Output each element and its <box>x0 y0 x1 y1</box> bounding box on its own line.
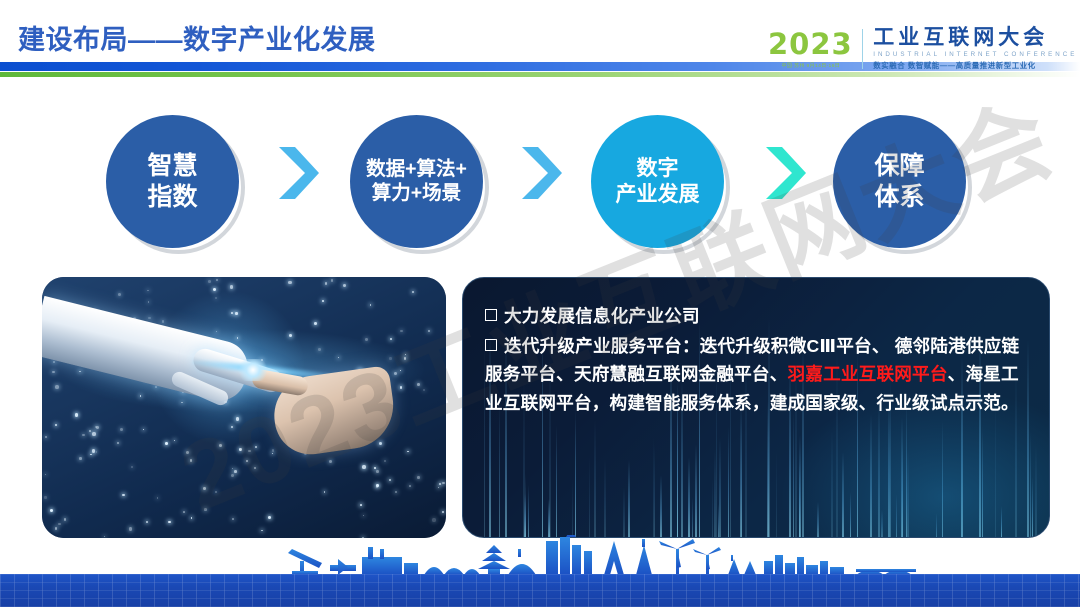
flow-step-2[interactable]: 数据+算法+算力+场景 <box>350 115 483 248</box>
bullet-item-2: 迭代升级产业服务平台：迭代升级积微CⅢ平台、 德邻陆港供应链服务平台、天府慧融互… <box>485 332 1033 418</box>
sparkle-dot <box>389 357 392 360</box>
page-title: 建设布局——数字产业化发展 <box>18 18 376 57</box>
sparkle-dot <box>146 521 148 523</box>
sparkle-dot <box>165 442 168 445</box>
sparkle-dot <box>428 330 430 332</box>
sparkle-dot <box>208 280 211 283</box>
sparkle-dot <box>230 285 233 288</box>
sparkle-dot <box>232 518 234 520</box>
sparkle-dot <box>261 530 262 531</box>
flow-step-4[interactable]: 保障体系 <box>833 115 966 248</box>
sparkle-dot <box>400 330 402 332</box>
sparkle-dot <box>174 440 175 441</box>
sparkle-dot <box>390 338 392 340</box>
sparkle-dot <box>412 291 414 293</box>
hero-photo <box>42 277 446 538</box>
light-streak <box>594 420 596 537</box>
sparkle-dot <box>325 282 328 285</box>
sparkle-dot <box>231 426 233 428</box>
slide-footer <box>0 538 1080 607</box>
sparkle-dot <box>162 320 165 323</box>
sparkle-dot <box>140 395 141 396</box>
sparkle-dot <box>384 460 386 462</box>
sparkle-dot <box>322 300 324 302</box>
sparkle-dot <box>213 288 216 291</box>
sparkle-dot <box>168 521 171 524</box>
sparkle-dot <box>439 483 442 486</box>
sparkle-dot <box>215 491 217 493</box>
footer-grid-pattern <box>0 574 1080 607</box>
sparkle-dot <box>394 372 397 375</box>
city-skyline-icon <box>0 535 1080 575</box>
slide-root: 建设布局——数字产业化发展 2023 中国·苏州 9月14日-16日 工业互联网… <box>0 0 1080 607</box>
sparkle-dot <box>64 518 66 520</box>
flow-step-1[interactable]: 智慧指数 <box>106 115 239 248</box>
sparkle-dot <box>289 334 292 337</box>
light-streak <box>695 444 697 537</box>
sparkle-dot <box>120 428 123 431</box>
sparkle-dot <box>216 279 218 281</box>
light-streak <box>525 474 527 537</box>
sparkle-dot <box>417 383 420 386</box>
sparkle-dot <box>181 402 183 404</box>
sparkle-dot <box>203 487 206 490</box>
sparkle-dot <box>157 497 158 498</box>
sparkle-dot <box>92 432 96 436</box>
sparkle-dot <box>96 451 98 453</box>
slide-header: 建设布局——数字产业化发展 2023 中国·苏州 9月14日-16日 工业互联网… <box>0 0 1080 88</box>
light-streak <box>728 427 730 537</box>
logo-year-block: 2023 中国·苏州 9月14日-16日 <box>768 30 862 69</box>
sparkle-dot <box>89 430 91 432</box>
sparkle-dot <box>237 337 239 339</box>
sparkle-dot <box>53 361 55 363</box>
panel-body-highlight: 羽嘉工业互联网平台 <box>788 364 948 384</box>
sparkle-dot <box>45 474 46 475</box>
sparkle-dot <box>96 426 99 429</box>
sparkle-dot <box>235 312 237 314</box>
sparkle-dot <box>343 284 346 287</box>
sparkle-dot <box>338 357 340 359</box>
sparkle-dot <box>190 459 192 461</box>
sparkle-dot <box>79 371 81 373</box>
sparkle-dot <box>442 511 444 513</box>
light-streak <box>654 444 656 537</box>
sparkle-dot <box>370 304 371 305</box>
light-streak <box>688 457 690 537</box>
sparkle-dot <box>191 517 193 519</box>
light-streak <box>556 425 558 537</box>
light-streak <box>623 487 625 537</box>
bullet-square-icon <box>485 339 497 351</box>
spark-core <box>238 359 268 381</box>
sparkle-dot <box>329 460 332 463</box>
sparkle-dot <box>148 301 150 303</box>
bullet-square-icon <box>485 309 497 321</box>
logo-date-location: 中国·苏州 9月14日-16日 <box>781 62 840 69</box>
panel-text: 大力发展信息化产业公司 迭代升级产业服务平台：迭代升级积微CⅢ平台、 德邻陆港供… <box>485 302 1033 417</box>
footer-ground-band <box>0 574 1080 607</box>
sparkle-dot <box>148 317 151 320</box>
sparkle-dot <box>82 434 85 437</box>
logo-english-name: INDUSTRIAL INTERNET CONFERENCE <box>873 51 1077 58</box>
light-streak <box>776 450 778 537</box>
sparkle-dot <box>324 491 326 493</box>
flow-step-2-label: 数据+算法+算力+场景 <box>360 158 473 206</box>
sparkle-dot <box>376 470 379 473</box>
sparkle-dot <box>186 451 189 454</box>
content-panel: 大力发展信息化产业公司 迭代升级产业服务平台：迭代升级积微CⅢ平台、 德邻陆港供… <box>462 277 1050 538</box>
sparkle-dot <box>231 474 235 478</box>
sparkle-dot <box>58 523 61 526</box>
sparkle-dot <box>248 450 250 452</box>
sparkle-dot <box>90 454 92 456</box>
sparkle-dot <box>314 322 317 325</box>
sparkle-dot <box>183 511 185 513</box>
sparkle-dot <box>331 279 333 281</box>
sparkle-dot <box>239 448 242 451</box>
sparkle-dot <box>234 470 237 473</box>
sparkle-dot <box>231 312 233 314</box>
sparkle-dot <box>79 457 82 460</box>
sparkle-dot <box>92 449 95 452</box>
sparkle-dot <box>204 508 207 511</box>
sparkle-dot <box>122 494 125 497</box>
sparkle-dot <box>417 476 420 479</box>
sparkle-dot <box>129 527 132 530</box>
sparkle-dot <box>318 348 321 351</box>
flow-step-3[interactable]: 数字产业发展 <box>591 115 724 248</box>
light-streak <box>719 438 721 537</box>
sparkle-dot <box>438 487 439 488</box>
sparkle-dot <box>389 479 391 481</box>
sparkle-dot <box>255 446 257 448</box>
sparkle-dot <box>50 509 53 512</box>
sparkle-dot <box>52 371 55 374</box>
light-streak <box>575 419 577 537</box>
sparkle-dot <box>118 293 121 296</box>
sparkle-dot <box>55 385 59 389</box>
flow-arrow-3-icon <box>762 145 808 201</box>
sparkle-dot <box>131 466 133 468</box>
flow-arrow-1-icon <box>275 145 321 201</box>
sparkle-dot <box>379 442 382 445</box>
light-streak <box>548 499 550 537</box>
sparkle-dot <box>272 449 275 452</box>
sparkle-dot <box>288 281 291 284</box>
sparkle-dot <box>409 485 411 487</box>
flow-diagram: 智慧指数 数据+算法+算力+场景 数字产业发展 <box>0 105 1080 250</box>
conference-logo: 2023 中国·苏州 9月14日-16日 工业互联网大会 INDUSTRIAL … <box>768 24 1077 74</box>
sparkle-dot <box>55 527 57 529</box>
sparkle-dot <box>376 486 378 488</box>
light-streak <box>589 457 591 537</box>
light-streak <box>528 485 530 537</box>
sparkle-dot <box>423 389 425 391</box>
sparkle-dot <box>155 386 157 388</box>
light-streak <box>499 402 501 537</box>
sparkle-dot <box>363 515 365 517</box>
sparkle-dot <box>236 417 239 420</box>
sparkle-dot <box>215 297 217 299</box>
light-streak <box>604 459 606 537</box>
sparkle-dot <box>75 413 78 416</box>
light-streak <box>628 460 630 537</box>
light-streak <box>660 475 662 537</box>
sparkle-dot <box>432 518 436 522</box>
sparkle-dot <box>442 482 445 485</box>
sparkle-dot <box>268 516 271 519</box>
flow-arrow-2-icon <box>518 145 564 201</box>
sparkle-dot <box>404 357 407 360</box>
light-streak <box>740 405 742 537</box>
sparkle-dot <box>216 331 218 333</box>
sparkle-dot <box>362 465 366 469</box>
sparkle-dot <box>374 467 376 469</box>
sparkle-dot <box>400 370 401 371</box>
logo-tagline: 数实融合 数智赋能——高质量推进新型工业化 <box>873 60 1077 71</box>
sparkle-dot <box>407 451 409 453</box>
sparkle-dot <box>405 354 406 355</box>
logo-text-block: 工业互联网大会 INDUSTRIAL INTERNET CONFERENCE 数… <box>863 27 1077 71</box>
sparkle-dot <box>400 386 403 389</box>
sparkle-dot <box>254 467 256 469</box>
sparkle-dot <box>395 491 397 493</box>
light-streak <box>692 497 694 537</box>
sparkle-dot <box>143 429 145 431</box>
light-streak <box>572 479 574 537</box>
sparkle-dot <box>360 504 362 506</box>
flow-step-4-label: 保障体系 <box>868 151 930 212</box>
flow-step-3-label: 数字产业发展 <box>610 156 706 207</box>
sparkle-dot <box>232 468 233 469</box>
sparkle-dot <box>44 496 46 498</box>
logo-chinese-name: 工业互联网大会 <box>873 27 1077 49</box>
sparkle-dot <box>55 424 57 426</box>
sparkle-dot <box>45 436 47 438</box>
bullet-item-1: 大力发展信息化产业公司 <box>485 302 1033 331</box>
sparkle-dot <box>219 444 222 447</box>
sparkle-dot <box>117 442 120 445</box>
flow-step-1-label: 智慧指数 <box>141 151 203 212</box>
logo-year: 2023 <box>768 30 853 59</box>
sparkle-dot <box>272 453 273 454</box>
sparkle-dot <box>246 460 248 462</box>
sparkle-dot <box>147 290 149 292</box>
sparkle-dot <box>365 338 368 341</box>
